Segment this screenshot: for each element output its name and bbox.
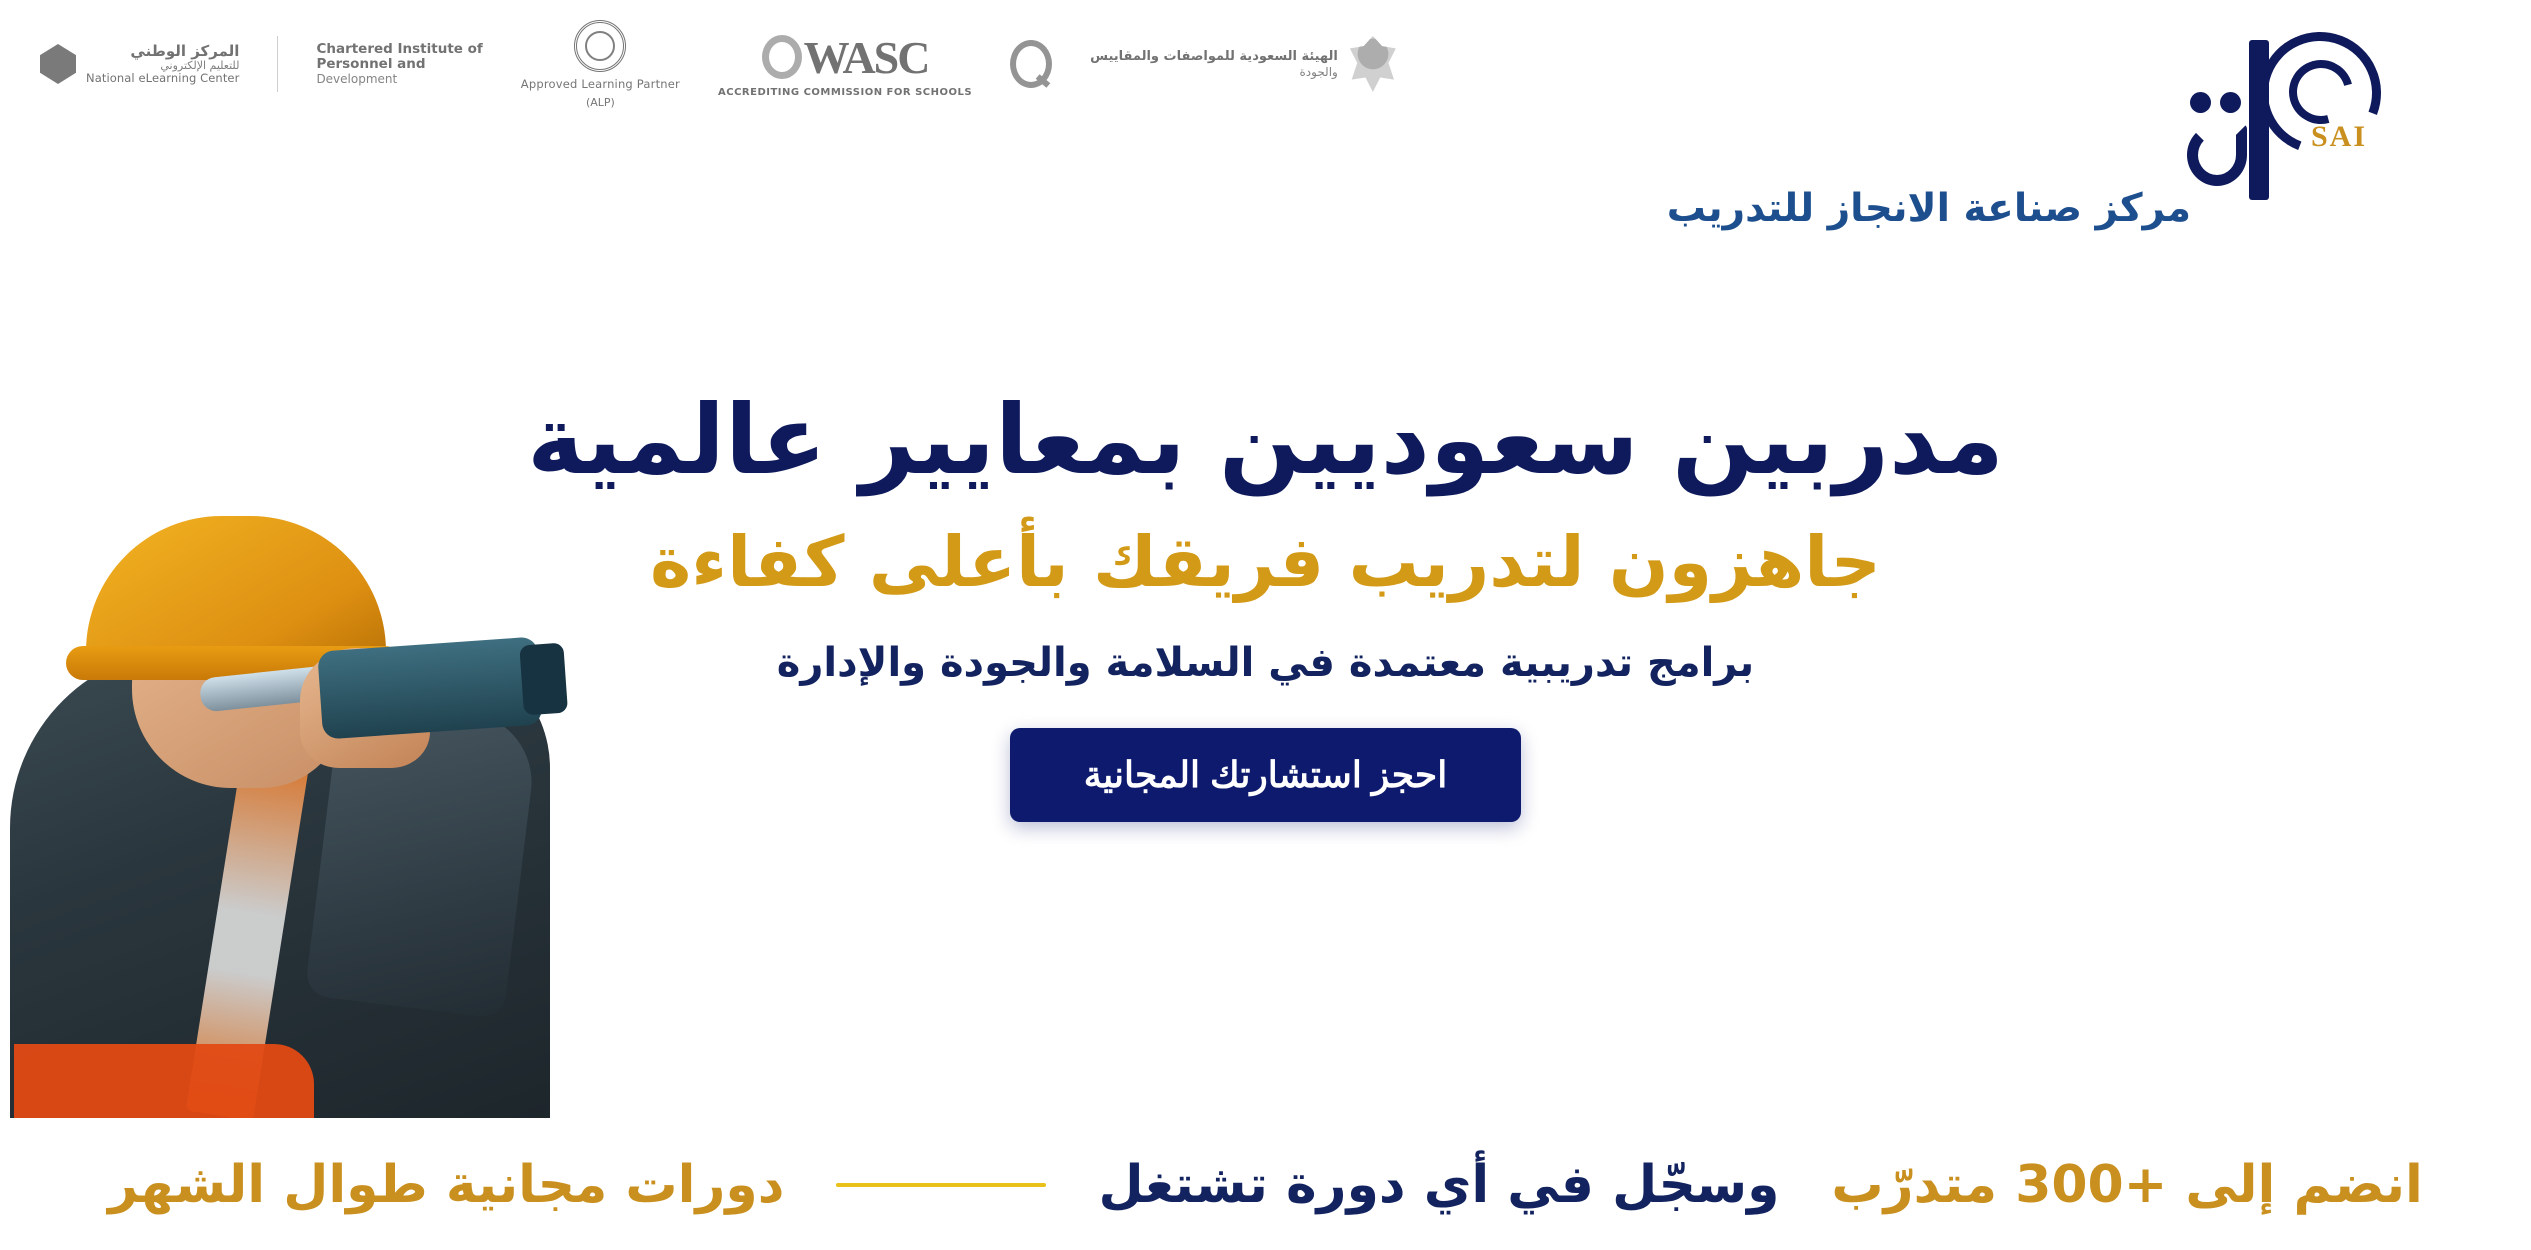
saudi-committee-label-2: والجودة — [1090, 65, 1338, 79]
binoculars-icon — [317, 636, 543, 739]
brand-dot-left-icon — [2190, 92, 2211, 113]
alp-subcaption: (ALP) — [586, 96, 615, 109]
cipd-label-2: Personnel and — [316, 57, 482, 73]
stat-free-courses: دورات مجانية طوال الشهر — [108, 1155, 784, 1215]
accreditation-logo-nelc: المركز الوطني للتعليم الإلكتروني Nationa… — [40, 43, 239, 85]
brand-stem-icon — [2249, 40, 2269, 200]
hexagon-mark-icon — [40, 44, 76, 84]
logo-divider — [277, 36, 278, 92]
wasc-subtitle: ACCREDITING COMMISSION FOR SCHOOLS — [718, 87, 972, 98]
wasc-wordmark: WASC — [804, 31, 929, 84]
accreditation-logo-alp: Approved Learning Partner (ALP) — [521, 20, 680, 109]
book-consultation-button[interactable]: احجز استشارتك المجانية — [1010, 728, 1521, 822]
saudi-star-icon — [1350, 36, 1396, 92]
stat-register-course: وسجّل في أي دورة تشتغل — [1098, 1155, 1779, 1215]
alp-caption: Approved Learning Partner — [521, 77, 680, 91]
wasc-ring-icon — [762, 35, 802, 79]
worker-photo — [0, 458, 580, 1118]
accreditation-logo-strip: المركز الوطني للتعليم الإلكتروني Nationa… — [0, 0, 2531, 128]
landing-page-hero: المركز الوطني للتعليم الإلكتروني Nationa… — [0, 0, 2531, 1250]
accreditation-logo-quality — [1010, 40, 1052, 88]
hard-hat-icon — [86, 516, 386, 666]
stat-join-trainees: انضم إلى +300 متدرّب — [1831, 1155, 2422, 1215]
nelc-label-en: National eLearning Center — [86, 72, 239, 85]
hero-section: مدربين سعوديين بمعايير عالمية جاهزون لتد… — [0, 128, 2531, 1250]
accreditation-logo-cipd: Chartered Institute of Personnel and Dev… — [316, 42, 482, 87]
stats-divider — [836, 1183, 1046, 1187]
accreditation-logo-saudi-committee: الهيئة السعودية للمواصفات والمقاييس والج… — [1090, 36, 1396, 92]
cipd-label-3: Development — [316, 73, 482, 87]
saudi-committee-label-1: الهيئة السعودية للمواصفات والمقاييس — [1090, 49, 1338, 65]
brand-initials: SAI — [2311, 120, 2367, 154]
worker-orange-band — [14, 1044, 314, 1118]
bottom-stats-bar: انضم إلى +300 متدرّب وسجّل في أي دورة تش… — [0, 1118, 2531, 1250]
accreditation-logo-wasc: WASC ACCREDITING COMMISSION FOR SCHOOLS — [718, 31, 972, 98]
brand-dot-right-icon — [2220, 92, 2241, 113]
nelc-label-ar-1: المركز الوطني — [86, 43, 239, 60]
q-badge-icon — [1010, 40, 1052, 88]
brand-logo-mark-icon: SAI — [2197, 24, 2387, 200]
brand-loop-icon — [2187, 124, 2247, 186]
seal-icon — [574, 20, 626, 72]
brand-name-ar: مركز صناعة الانجاز للتدريب — [1667, 186, 2191, 231]
cipd-label-1: Chartered Institute of — [316, 42, 482, 58]
brand-logo[interactable]: SAI — [2197, 14, 2497, 210]
